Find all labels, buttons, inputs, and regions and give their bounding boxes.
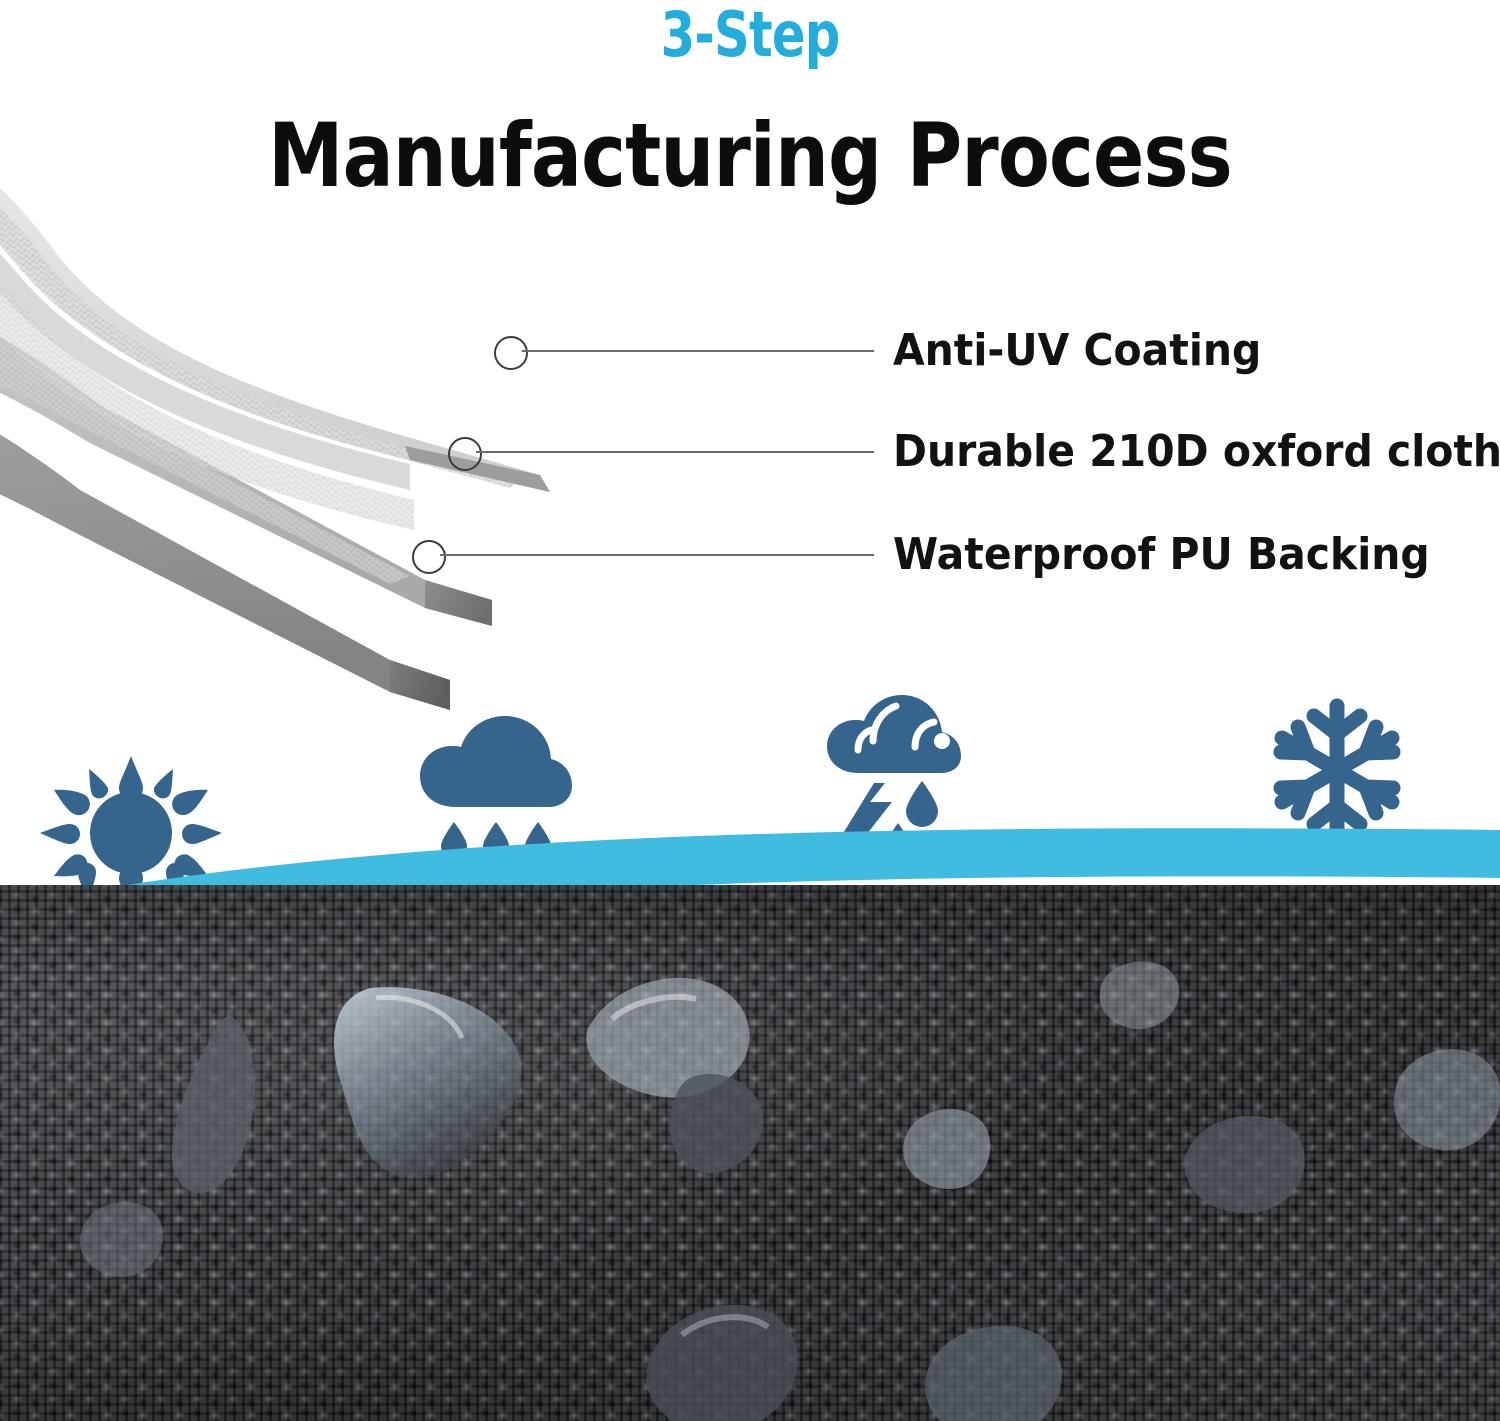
page-title: Manufacturing Process bbox=[105, 112, 1395, 200]
callout-circle-icon bbox=[448, 437, 482, 471]
callout-circle-icon bbox=[494, 336, 528, 370]
callout-circle-icon bbox=[412, 540, 446, 574]
callout-label-pu-backing: Waterproof PU Backing bbox=[893, 529, 1430, 580]
leader-line bbox=[476, 451, 874, 453]
callout-label-anti-uv: Anti-UV Coating bbox=[893, 325, 1261, 376]
kicker-text: 3-Step bbox=[150, 4, 1350, 66]
waterproof-fabric-closeup bbox=[0, 885, 1500, 1421]
leader-line bbox=[440, 554, 874, 556]
fabric-lighting-overlay bbox=[0, 885, 1500, 1421]
infographic-page: Anti-UV Coating Durable 210D oxford clot… bbox=[0, 0, 1500, 1421]
leader-line bbox=[522, 350, 874, 352]
callout-label-oxford: Durable 210D oxford cloth bbox=[893, 426, 1500, 477]
